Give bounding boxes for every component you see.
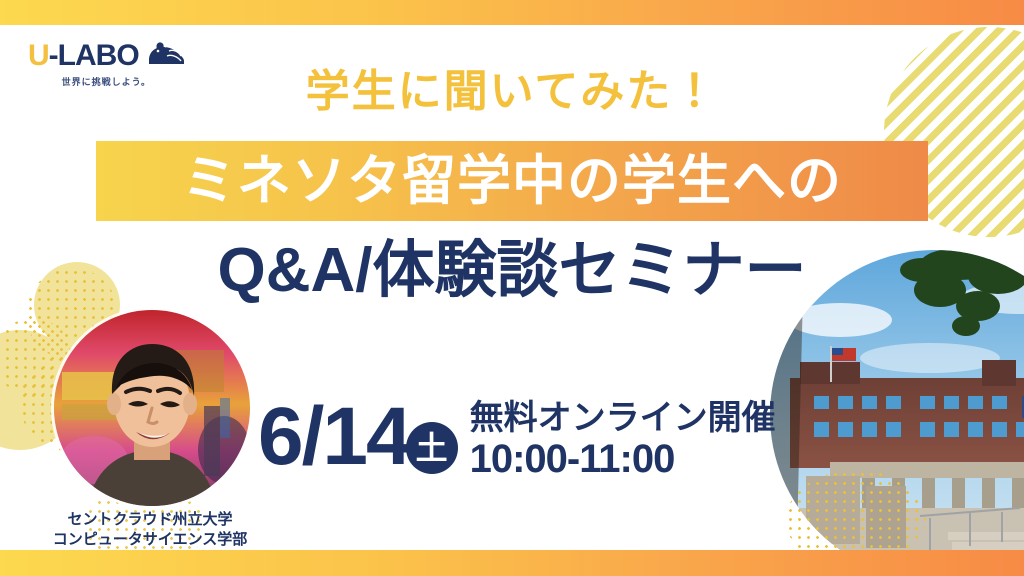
speaker-department: コンピュータサイエンス学部 — [0, 530, 300, 550]
event-detail-block: 無料オンライン開催 10:00-11:00 — [470, 400, 776, 481]
speaker-university: セントクラウド州立大学 — [0, 510, 300, 530]
seminar-poster: セントクラウド州立大学 コンピュータサイエンス学部 U -LABO 世界に挑戦し… — [0, 0, 1024, 576]
event-format: 無料オンライン開催 — [470, 400, 776, 437]
event-date: 6/14 — [258, 398, 410, 476]
event-info: 6/14 土 無料オンライン開催 10:00-11:00 — [258, 398, 776, 481]
title-banner-text: ミネソタ留学中の学生への — [182, 154, 842, 208]
brand-logo[interactable]: U -LABO 世界に挑戦しよう。 — [28, 40, 185, 88]
event-date-block: 6/14 土 — [258, 398, 458, 476]
event-day-badge: 土 — [406, 422, 458, 474]
logo-wordmark: U -LABO — [28, 40, 185, 71]
speaker-avatar — [54, 310, 250, 506]
logo-word-labo: -LABO — [49, 41, 139, 71]
poster-subtitle: Q&A/体験談セミナー — [0, 240, 1024, 302]
gradient-bar-top — [0, 0, 1024, 25]
event-time: 10:00-11:00 — [470, 437, 776, 481]
logo-letter-u: U — [28, 41, 49, 71]
gradient-bar-bottom — [0, 550, 1024, 576]
polar-bear-icon — [145, 40, 185, 71]
speaker-caption: セントクラウド州立大学 コンピュータサイエンス学部 — [0, 510, 300, 551]
title-banner: ミネソタ留学中の学生への — [96, 141, 928, 221]
logo-tagline: 世界に挑戦しよう。 — [62, 75, 151, 88]
